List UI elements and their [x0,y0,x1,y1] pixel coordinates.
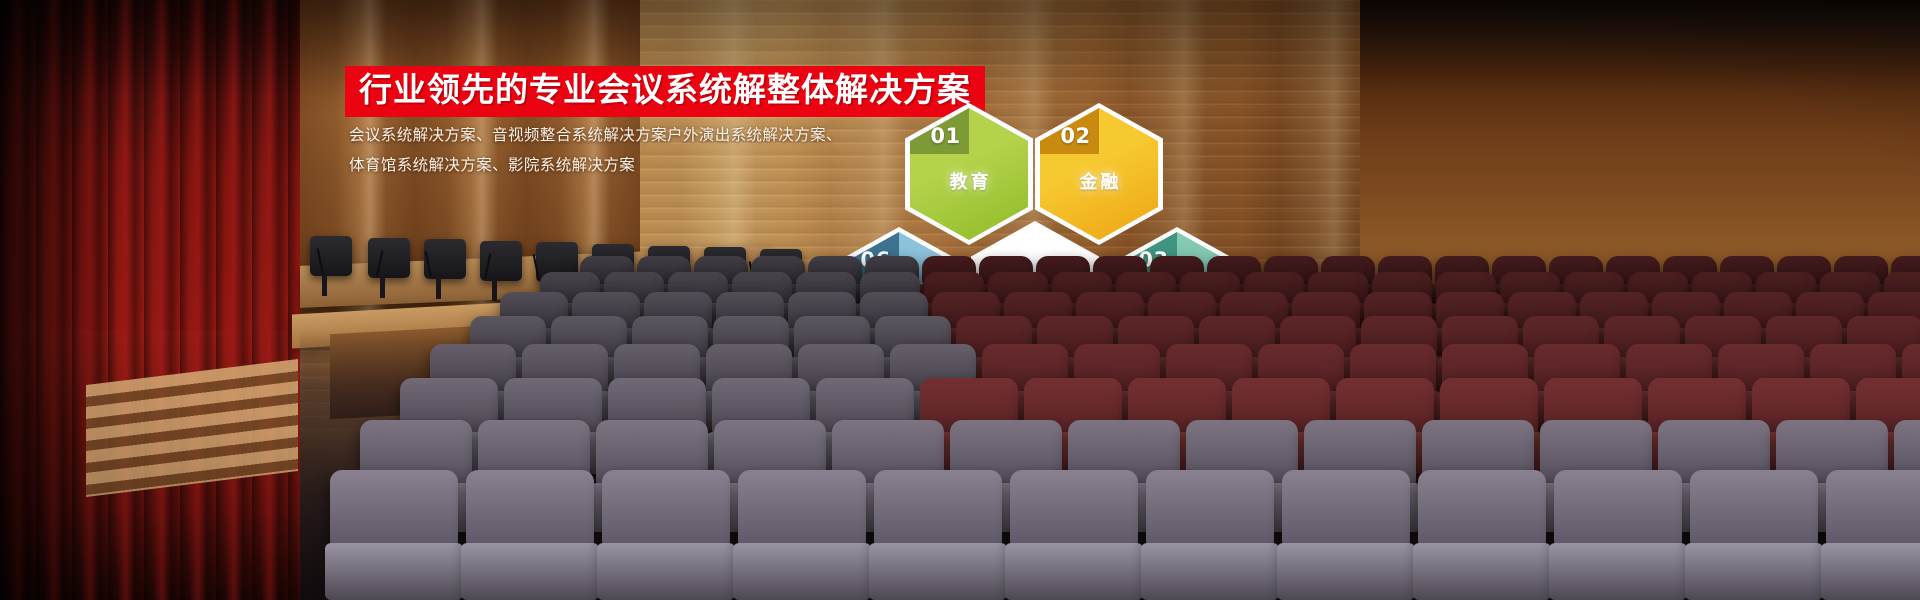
seat-back [874,470,1002,545]
seat-arm [1277,543,1415,600]
seat-back [1690,470,1818,545]
seat-arm [869,543,1007,600]
seat-arm [1413,543,1551,600]
seat-arm [1821,543,1920,600]
audience-seat [874,470,1002,600]
seat-back [1282,470,1410,545]
hex-number: 01 [930,124,960,148]
seat-back [1146,470,1274,545]
hex-label: 金融 [1040,168,1158,194]
audience-seat [602,470,730,600]
seat-arm [1005,543,1143,600]
seat-arm [1549,543,1687,600]
seat-arm [461,543,599,600]
audience-seat [330,470,458,600]
seat-back [1010,470,1138,545]
audience-seat [1418,470,1546,600]
audience-seat [1554,470,1682,600]
audience-seat [1826,470,1920,600]
seat-arm [1685,543,1823,600]
hex-number: 02 [1060,124,1090,148]
seat-arm [1141,543,1279,600]
seat-back [466,470,594,545]
seat-arm [325,543,463,600]
banner-stage: 行业领先的专业会议系统解整体解决方案 会议系统解决方案、音视频整合系统解决方案户… [0,0,1920,600]
seat-back [602,470,730,545]
audience-seat [1146,470,1274,600]
seat-back [330,470,458,545]
seat-back [1826,470,1920,545]
audience-seat [1282,470,1410,600]
hex-label: 教育 [910,168,1028,194]
audience-seat [1690,470,1818,600]
audience-seat [466,470,594,600]
seat-back [738,470,866,545]
audience-seat [1010,470,1138,600]
seat-back [1418,470,1546,545]
audience-seat [738,470,866,600]
seat-back [1554,470,1682,545]
seat-arm [597,543,735,600]
seat-arm [733,543,871,600]
